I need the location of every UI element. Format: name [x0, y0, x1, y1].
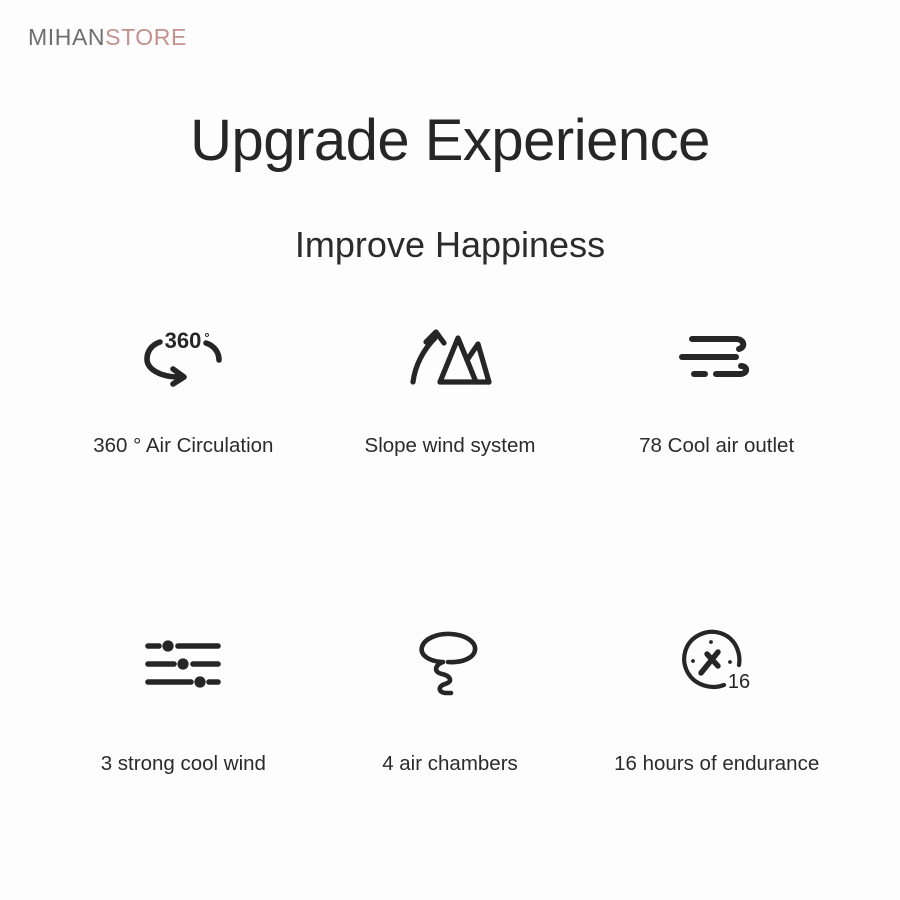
- vortex-spiral-icon: [415, 618, 485, 710]
- 360-rotation-arrow-icon: 360 °: [135, 310, 231, 402]
- feature-label-cool-air-outlet: 78 Cool air outlet: [639, 436, 794, 457]
- feature-label-strong-cool-wind: 3 strong cool wind: [101, 754, 266, 775]
- 360-icon-text: 360: [165, 328, 202, 353]
- feature-item-air-chambers: 4 air chambers: [317, 618, 584, 808]
- feature-label-endurance: 16 hours of endurance: [614, 754, 819, 775]
- brand-logo: MIHANSTORE: [28, 24, 187, 51]
- feature-label-air-chambers: 4 air chambers: [382, 754, 518, 775]
- slider-levels-icon: [144, 618, 222, 710]
- page-subtitle: Improve Happiness: [0, 170, 900, 263]
- headings-block: Upgrade Experience Improve Happiness: [0, 112, 900, 263]
- brand-logo-primary: MIHAN: [28, 24, 105, 50]
- brand-logo-secondary: STORE: [105, 24, 187, 50]
- feature-label-air-circulation: 360 ° Air Circulation: [93, 436, 273, 457]
- feature-item-strong-cool-wind: 3 strong cool wind: [50, 618, 317, 808]
- page-title: Upgrade Experience: [0, 112, 900, 170]
- slope-wind-mountain-icon: [405, 310, 495, 402]
- feature-label-slope-wind: Slope wind system: [365, 436, 536, 457]
- feature-item-air-circulation: 360 ° 360 ° Air Circulation: [50, 310, 317, 500]
- feature-item-endurance: 16 16 hours of endurance: [583, 618, 850, 808]
- clock-endurance-icon: 16: [677, 618, 757, 710]
- feature-item-slope-wind: Slope wind system: [317, 310, 584, 500]
- feature-item-cool-air-outlet: 78 Cool air outlet: [583, 310, 850, 500]
- wind-lines-icon: [674, 310, 760, 402]
- feature-grid: 360 ° 360 ° Air Circulation Sl: [50, 310, 850, 808]
- clock-icon-text: 16: [728, 671, 750, 693]
